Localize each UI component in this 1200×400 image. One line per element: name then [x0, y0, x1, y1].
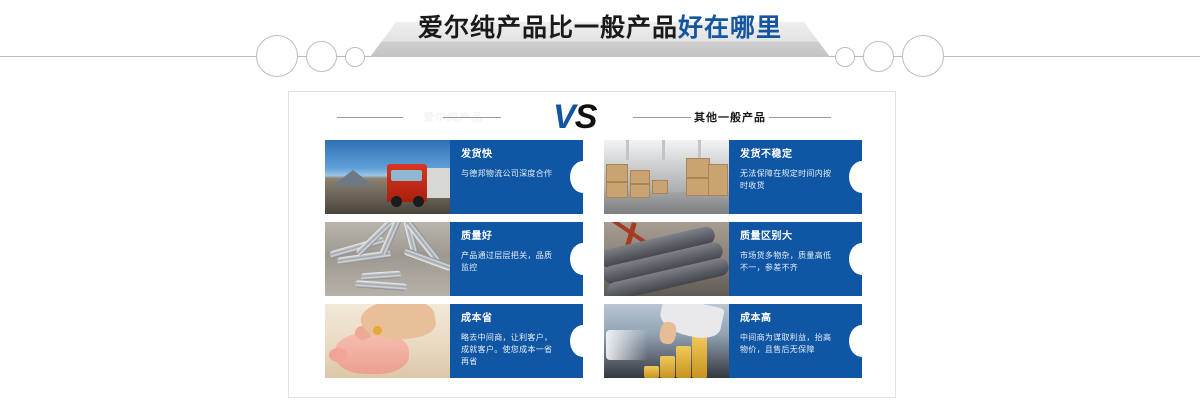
decor-circle-right-medium — [863, 41, 894, 72]
notch-cutout — [570, 161, 583, 193]
steel-tubes-image — [325, 222, 450, 296]
page-title-highlight: 好在哪里 — [678, 14, 782, 42]
card-title: 成本省 — [461, 313, 557, 325]
rule-left-inner — [443, 117, 501, 118]
vs-mark: VS — [553, 97, 596, 137]
notch-cutout — [570, 243, 583, 275]
notch-cutout — [849, 243, 862, 275]
grey-pipes-image — [604, 222, 729, 296]
page-title-plain: 爱尔纯产品比一般产品 — [418, 14, 678, 42]
card-description: 产品通过层层把关，品质监控 — [461, 250, 557, 274]
vs-letter-s: S — [575, 98, 597, 136]
drawback-card-body: 质量区别大 市场货多物杂，质量高低不一，参差不齐 — [729, 222, 862, 296]
piggy-bank-image — [325, 304, 450, 378]
rule-left-outer — [337, 117, 403, 118]
gold-coins-image — [604, 304, 729, 378]
drawback-card-body: 发货不稳定 无法保障在规定时间内按时收货 — [729, 140, 862, 214]
notch-cutout — [570, 325, 583, 357]
advantage-card-cost[interactable]: 成本省 略去中间商，让利客户，成就客户。使您成本一省再省 — [325, 304, 583, 378]
rule-right-inner — [633, 117, 691, 118]
card-title: 发货不稳定 — [740, 149, 836, 161]
card-description: 中间商为谋取利益，抬高物价，且售后无保障 — [740, 332, 836, 356]
advantage-card-body: 质量好 产品通过层层把关，品质监控 — [450, 222, 583, 296]
comparison-grid: 发货快 与德邦物流公司深度合作 质量好 产品通过层层把关，品质监控 — [325, 140, 862, 384]
advantages-column: 发货快 与德邦物流公司深度合作 质量好 产品通过层层把关，品质监控 — [325, 140, 583, 386]
card-description: 无法保障在规定时间内按时收货 — [740, 168, 836, 192]
decor-circle-left-medium — [306, 41, 337, 72]
page-header: 爱尔纯产品比一般产品好在哪里 — [0, 0, 1200, 88]
decor-circle-left-small — [345, 47, 365, 67]
vs-header-bar: 爱尔纯产品 VS 其他一般产品 — [288, 96, 896, 140]
truck-image — [325, 140, 450, 214]
advantage-card-quality[interactable]: 质量好 产品通过层层把关，品质监控 — [325, 222, 583, 296]
card-title: 质量好 — [461, 231, 557, 243]
notch-cutout — [849, 161, 862, 193]
warehouse-image — [604, 140, 729, 214]
card-title: 质量区别大 — [740, 231, 836, 243]
card-description: 略去中间商，让利客户，成就客户。使您成本一省再省 — [461, 332, 557, 368]
rule-right-outer — [769, 117, 831, 118]
drawback-card-body: 成本高 中间商为谋取利益，抬高物价，且售后无保障 — [729, 304, 862, 378]
card-description: 市场货多物杂，质量高低不一，参差不齐 — [740, 250, 836, 274]
page-title: 爱尔纯产品比一般产品好在哪里 — [0, 8, 1200, 44]
right-column-label: 其他一般产品 — [687, 109, 773, 125]
advantage-card-body: 发货快 与德邦物流公司深度合作 — [450, 140, 583, 214]
advantage-card-delivery[interactable]: 发货快 与德邦物流公司深度合作 — [325, 140, 583, 214]
advantage-card-body: 成本省 略去中间商，让利客户，成就客户。使您成本一省再省 — [450, 304, 583, 378]
decor-circle-right-small — [835, 47, 855, 67]
drawback-card-quality[interactable]: 质量区别大 市场货多物杂，质量高低不一，参差不齐 — [604, 222, 862, 296]
card-title: 发货快 — [461, 149, 557, 161]
drawbacks-column: 发货不稳定 无法保障在规定时间内按时收货 质量区别大 市场货多物杂，质量高低不一… — [604, 140, 862, 386]
notch-cutout — [849, 325, 862, 357]
drawback-card-delivery[interactable]: 发货不稳定 无法保障在规定时间内按时收货 — [604, 140, 862, 214]
drawback-card-cost[interactable]: 成本高 中间商为谋取利益，抬高物价，且售后无保障 — [604, 304, 862, 378]
vs-letter-v: V — [553, 98, 575, 136]
card-description: 与德邦物流公司深度合作 — [461, 168, 557, 180]
card-title: 成本高 — [740, 313, 836, 325]
